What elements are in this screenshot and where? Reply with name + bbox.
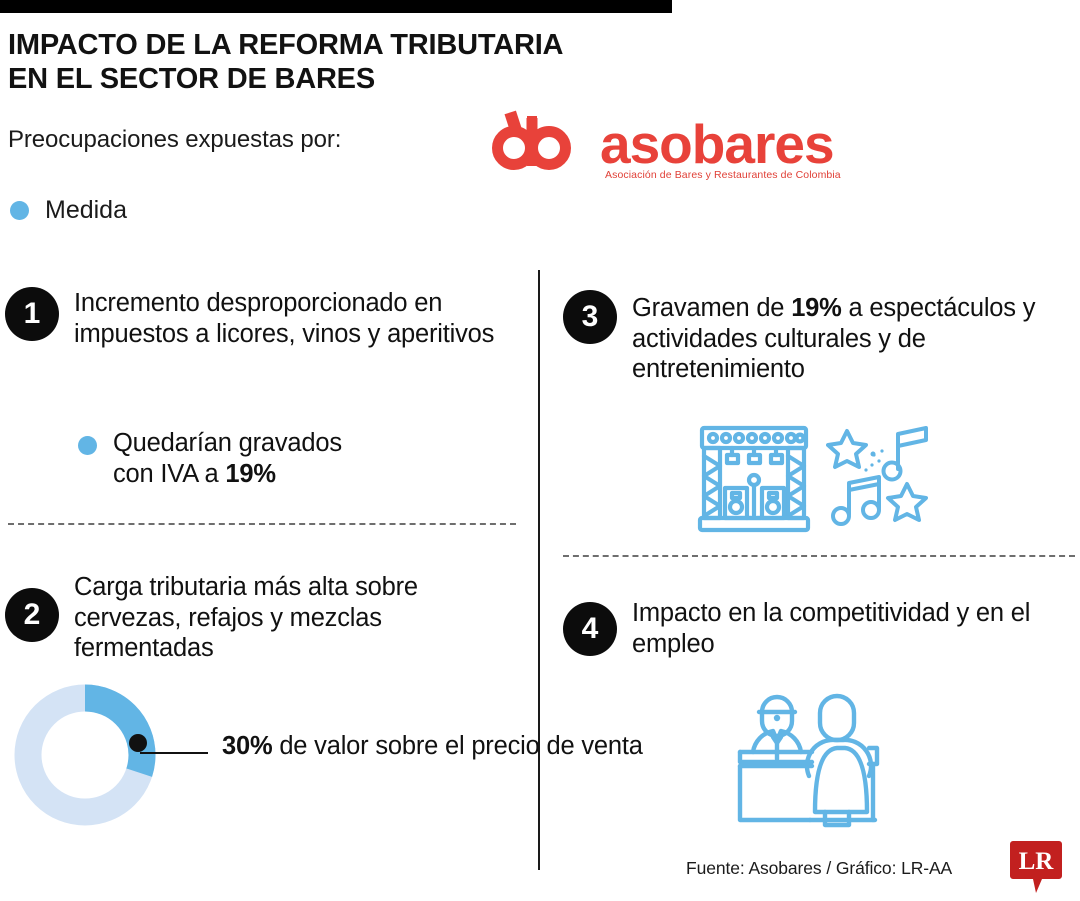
dashed-divider-right xyxy=(563,555,1075,557)
item-3-text: Gravamen de 19% a espectáculos y activid… xyxy=(632,293,1080,385)
top-black-bar xyxy=(0,0,672,13)
legend: Medida xyxy=(10,196,127,225)
item-4-number-badge: 4 xyxy=(563,602,617,656)
item-3-text-lead: Gravamen de xyxy=(632,294,791,322)
item-1-subitem: Quedarían gravados con IVA a 19% xyxy=(78,428,498,489)
subtitle: Preocupaciones expuestas por: xyxy=(8,126,341,154)
donut-callout-value: 30% xyxy=(222,732,272,760)
item-4-text: Impacto en la competitividad y en el emp… xyxy=(632,598,1072,659)
item-1-number: 1 xyxy=(24,299,41,329)
item-1-subitem-text: Quedarían gravados con IVA a 19% xyxy=(113,428,342,489)
item-4-number: 4 xyxy=(582,614,599,644)
page-title-line-1: IMPACTO DE LA REFORMA TRIBUTARIA xyxy=(8,29,563,61)
infographic-canvas: IMPACTO DE LA REFORMA TRIBUTARIA EN EL S… xyxy=(0,0,1080,900)
subitem-dot-icon xyxy=(78,436,97,455)
column-divider xyxy=(538,270,540,870)
item-1-subitem-line-2-prefix: con IVA a xyxy=(113,460,225,488)
dashed-divider-left xyxy=(8,523,516,525)
bar-staff-customer-icon xyxy=(737,690,892,840)
source-note: Fuente: Asobares / Gráfico: LR-AA xyxy=(686,858,952,879)
svg-text:asobares: asobares xyxy=(600,113,834,172)
donut-callout-rest: de valor sobre el precio de venta xyxy=(272,732,642,760)
page-title-line-2: EN EL SECTOR DE BARES xyxy=(8,62,708,96)
asobares-logo-mark: asobares xyxy=(487,110,902,172)
item-1-subitem-line-1: Quedarían gravados xyxy=(113,429,342,457)
lr-logo-svg: LR xyxy=(1010,838,1062,896)
donut-callout-line xyxy=(140,752,208,754)
page-title: IMPACTO DE LA REFORMA TRIBUTARIA EN EL S… xyxy=(8,28,708,96)
asobares-tagline: Asociación de Bares y Restaurantes de Co… xyxy=(605,169,841,181)
item-3-number: 3 xyxy=(582,302,599,332)
donut-callout-dot-icon xyxy=(129,734,147,752)
donut-chart-svg xyxy=(10,680,160,830)
legend-label: Medida xyxy=(45,196,127,225)
donut-callout-text: 30% de valor sobre el precio de venta xyxy=(222,731,643,762)
asobares-logo: asobares Asociación de Bares y Restauran… xyxy=(487,110,902,190)
stage-icon xyxy=(692,422,816,539)
legend-dot-icon xyxy=(10,201,29,220)
item-1-text: Incremento desproporcionado en impuestos… xyxy=(74,288,529,349)
item-2-number-badge: 2 xyxy=(5,588,59,642)
item-3-value: 19% xyxy=(791,294,841,322)
item-2-text: Carga tributaria más alta sobre cervezas… xyxy=(74,572,524,664)
donut-chart xyxy=(10,680,160,830)
lr-logo-text: LR xyxy=(1019,848,1055,875)
lr-logo: LR xyxy=(1010,838,1062,896)
music-notes-stars-icon xyxy=(826,424,936,534)
item-1-number-badge: 1 xyxy=(5,287,59,341)
item-3-number-badge: 3 xyxy=(563,290,617,344)
item-1-subitem-value: 19% xyxy=(225,460,275,488)
item-2-number: 2 xyxy=(24,600,41,630)
